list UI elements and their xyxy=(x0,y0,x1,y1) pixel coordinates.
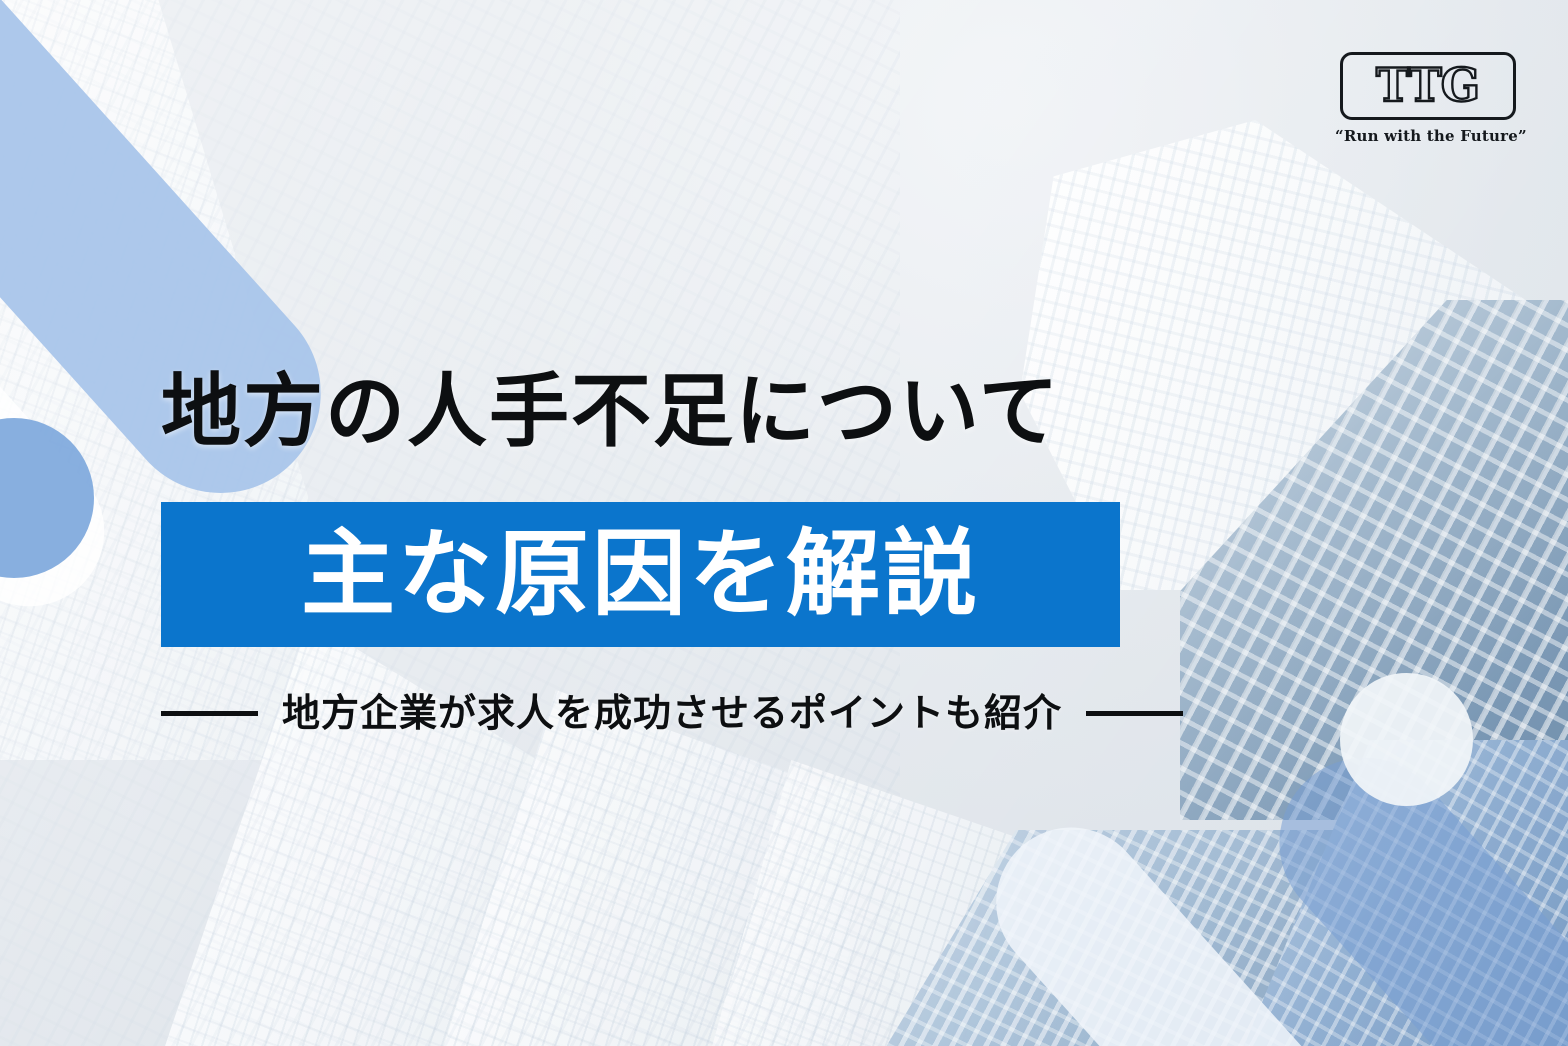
page-subtitle: 地方企業が求人を成功させるポイントも紹介 xyxy=(282,694,1062,732)
logo-wordmark: TTG xyxy=(1376,62,1479,110)
dash-left-icon xyxy=(161,711,258,716)
poster-canvas: TTG “Run with the Future” 地方の人手不足について 主な… xyxy=(0,0,1568,1046)
subtitle-row: 地方企業が求人を成功させるポイントも紹介 xyxy=(161,694,1375,732)
highlight-banner-text: 主な原因を解説 xyxy=(301,528,980,622)
dash-right-icon xyxy=(1086,711,1183,716)
page-title: 地方の人手不足について xyxy=(161,372,1061,452)
highlight-banner: 主な原因を解説 xyxy=(161,502,1120,647)
logo-frame-icon: TTG xyxy=(1340,52,1516,120)
decor-white-circle-bottom-right xyxy=(1340,673,1473,806)
brand-logo: TTG “Run with the Future” xyxy=(1335,52,1520,145)
logo-tagline: “Run with the Future” xyxy=(1335,127,1520,145)
